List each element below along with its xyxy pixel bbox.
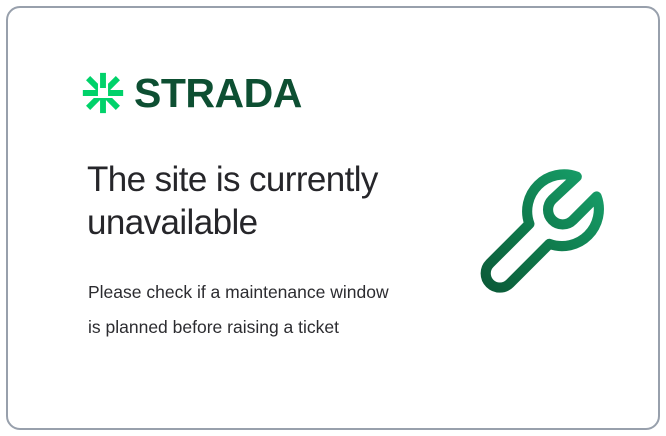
page-title: The site is currently unavailable	[87, 158, 447, 245]
brand-wordmark: STRADA	[134, 73, 302, 114]
status-description: Please check if a maintenance window is …	[88, 275, 398, 345]
strada-starburst-icon	[82, 72, 124, 114]
wrench-icon	[460, 156, 624, 320]
brand-lockup: STRADA	[82, 72, 302, 114]
status-card: STRADA The site is currently unavailable…	[6, 6, 660, 430]
